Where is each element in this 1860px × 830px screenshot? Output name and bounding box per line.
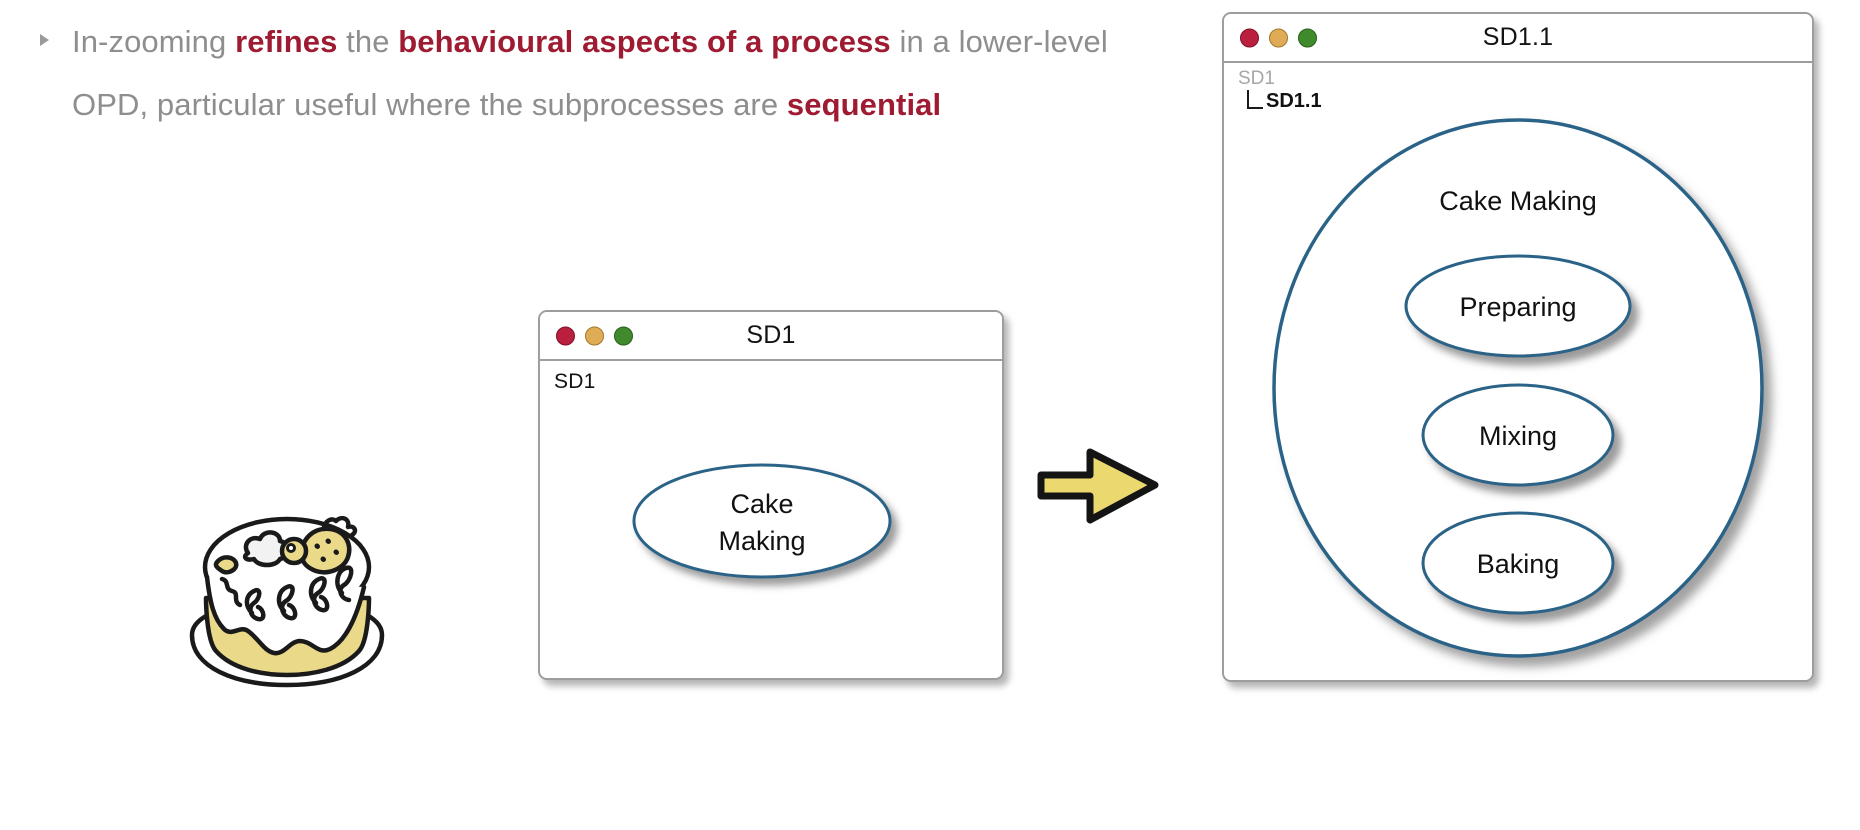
process-ellipse-cake-making[interactable] bbox=[634, 465, 890, 577]
opd-diagram-sd1-1: Cake Making Preparing Mixing Baking bbox=[1224, 63, 1812, 682]
process-label-line2: Making bbox=[718, 526, 805, 556]
canvas-sd1-1: SD1 SD1.1 Cake Making Preparing bbox=[1224, 63, 1812, 682]
titlebar-sd1-1[interactable]: SD1.1 bbox=[1224, 14, 1812, 63]
triangle-bullet-icon bbox=[40, 34, 49, 46]
subprocess-label-preparing: Preparing bbox=[1459, 292, 1576, 322]
crumb-left bbox=[216, 557, 236, 572]
canvas-sd1: SD1 Cake Making bbox=[540, 361, 1002, 680]
bullet-highlight-sequential: sequential bbox=[787, 87, 941, 122]
traffic-lights-sd1[interactable] bbox=[556, 326, 633, 345]
bullet-highlight-behavioural-aspects: behavioural aspects of a process bbox=[398, 24, 891, 59]
strawberry bbox=[302, 529, 349, 572]
bullet-text-segment: in a lower-level bbox=[891, 24, 1108, 59]
titlebar-sd1[interactable]: SD1 bbox=[540, 312, 1002, 361]
bullet-text-segment: OPD, particular useful where the subproc… bbox=[72, 87, 787, 122]
bullet-text-segment: In-zooming bbox=[72, 24, 235, 59]
bullet-text-segment: the bbox=[337, 24, 398, 59]
in-zoom-arrow bbox=[1035, 440, 1165, 535]
subprocess-label-mixing: Mixing bbox=[1479, 421, 1557, 451]
maximize-light-icon[interactable] bbox=[614, 326, 633, 345]
window-sd1[interactable]: SD1 SD1 Cake Making bbox=[538, 310, 1004, 680]
bullet-line-2: OPD, particular useful where the subproc… bbox=[72, 73, 1195, 136]
close-light-icon[interactable] bbox=[1240, 28, 1259, 47]
minimize-light-icon[interactable] bbox=[1269, 28, 1288, 47]
maximize-light-icon[interactable] bbox=[1298, 28, 1317, 47]
bullet-line-1: In-zooming refines the behavioural aspec… bbox=[72, 10, 1195, 73]
minimize-light-icon[interactable] bbox=[585, 326, 604, 345]
arrow-path bbox=[1041, 452, 1155, 520]
process-label-line1: Cake bbox=[730, 489, 793, 519]
bullet-highlight-refines: refines bbox=[235, 24, 337, 59]
bullet-block: In-zooming refines the behavioural aspec… bbox=[40, 10, 1195, 136]
traffic-lights-sd1-1[interactable] bbox=[1240, 28, 1317, 47]
cake-illustration bbox=[180, 495, 395, 700]
arrow-shape bbox=[1035, 440, 1165, 530]
close-light-icon[interactable] bbox=[556, 326, 575, 345]
cake-drawing bbox=[180, 495, 395, 695]
window-sd1-1[interactable]: SD1.1 SD1 SD1.1 Cake Making bbox=[1222, 12, 1814, 682]
berry-highlight bbox=[288, 545, 295, 552]
opd-diagram-sd1: Cake Making bbox=[540, 361, 1002, 680]
subprocess-label-baking: Baking bbox=[1477, 549, 1560, 579]
process-label-cake-making: Cake Making bbox=[1439, 186, 1597, 216]
